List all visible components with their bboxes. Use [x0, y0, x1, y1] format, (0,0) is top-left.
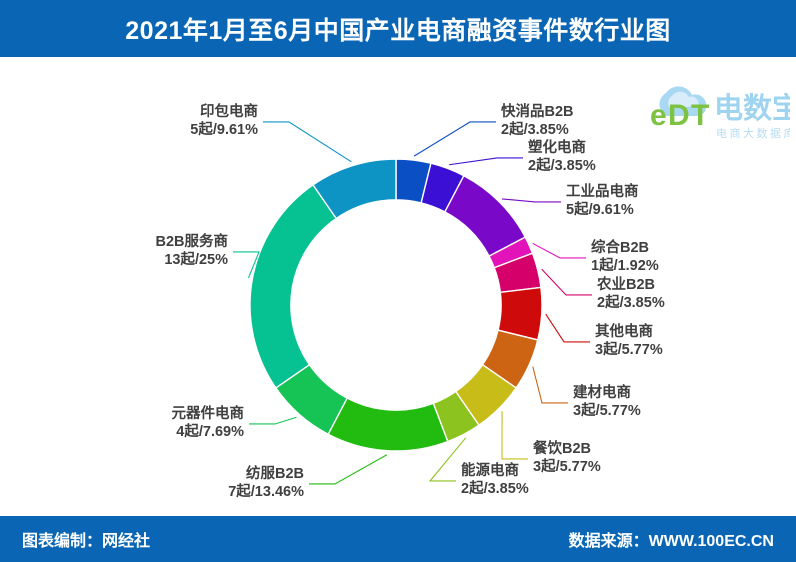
slice-label-其他电商: 其他电商 3起/5.77%: [595, 324, 663, 360]
footer-source: 数据来源：WWW.100EC.CN: [569, 516, 774, 562]
slice-label-餐饮B2B: 餐饮B2B 3起/5.77%: [533, 441, 601, 477]
donut-slices: [250, 159, 542, 451]
leader-line-纺服B2B: [309, 455, 387, 484]
slice-label-综合B2B: 综合B2B 1起/1.92%: [591, 240, 659, 276]
slice-label-B2B服务商: B2B服务商 13起/25%: [68, 234, 228, 270]
slice-label-塑化电商: 塑化电商 2起/3.85%: [528, 140, 596, 176]
slice-label-快消品B2B: 快消品B2B 2起/3.85%: [501, 104, 574, 140]
slice-label-能源电商: 能源电商 2起/3.85%: [461, 463, 529, 499]
leader-line-快消品B2B: [414, 122, 496, 156]
leader-line-农业B2B: [542, 269, 592, 295]
leader-line-印包电商: [263, 122, 351, 162]
leader-line-元器件电商: [249, 417, 297, 424]
leader-line-综合B2B: [533, 243, 586, 258]
leader-line-餐饮B2B: [502, 411, 528, 459]
slice-label-建材电商: 建材电商 3起/5.77%: [573, 385, 641, 421]
donut-slice-B2B服务商[interactable]: [250, 185, 336, 388]
leader-line-其他电商: [546, 314, 590, 342]
slice-label-农业B2B: 农业B2B 2起/3.85%: [597, 277, 665, 313]
slice-label-工业品电商: 工业品电商 5起/9.61%: [566, 184, 639, 220]
leader-line-工业品电商: [502, 199, 561, 202]
leader-line-建材电商: [533, 367, 568, 403]
footer-credit: 图表编制：网经社: [22, 516, 150, 562]
donut-slice-纺服B2B[interactable]: [328, 398, 448, 451]
page-title: 2021年1月至6月中国产业电商融资事件数行业图: [0, 0, 796, 57]
leader-line-塑化电商: [449, 158, 523, 165]
slice-label-印包电商: 印包电商 5起/9.61%: [118, 104, 258, 140]
chart-page: 2021年1月至6月中国产业电商融资事件数行业图 e D T 电数宝 电商大数据…: [0, 0, 796, 562]
slice-label-纺服B2B: 纺服B2B 7起/13.46%: [124, 466, 304, 502]
slice-label-元器件电商: 元器件电商 4起/7.69%: [84, 406, 244, 442]
